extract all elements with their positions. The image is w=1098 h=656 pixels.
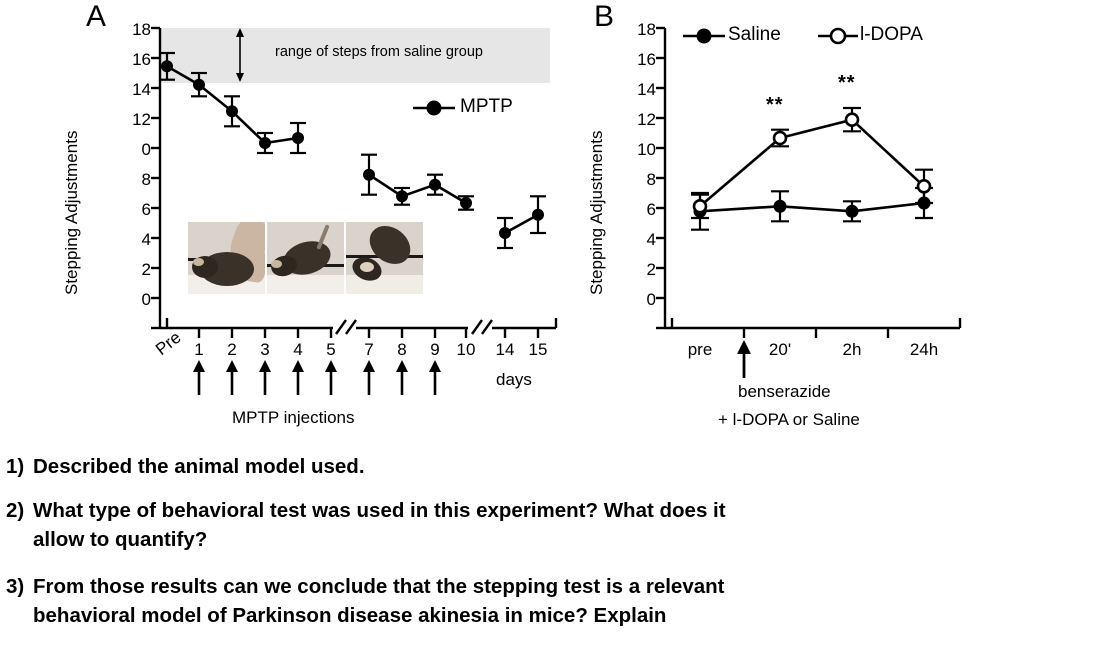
panel-b-series-saline (691, 188, 933, 230)
panel-b-legend-ldopa-marker (818, 29, 858, 43)
stepping-test-photo-1 (188, 222, 265, 294)
panel-b-plot (590, 0, 1098, 448)
panel-a-y-axis (151, 28, 160, 328)
question-2-line-1: What type of behavioral test was used in… (33, 498, 1075, 524)
panel-b-legend-saline-label: Saline (728, 24, 781, 46)
panel-b-xtick-2h: 2h (827, 340, 877, 360)
mptp-injections-caption: MPTP injections (232, 408, 355, 428)
panel-b-xtick-20min: 20' (755, 340, 805, 360)
panel-a-xtick-4: 4 (283, 340, 313, 360)
panel-b-y-axis (656, 28, 665, 328)
panel-b-x-axis (665, 318, 960, 338)
question-3-number: 3) (6, 574, 24, 600)
treatment-arrow-icon (737, 340, 751, 378)
panel-b-xtick-pre: pre (675, 340, 725, 360)
treatment-label-line2: + l-DOPA or Saline (718, 410, 860, 430)
panel-a-xtick-2: 2 (217, 340, 247, 360)
panel-a-xtick-15: 15 (523, 340, 553, 360)
panel-b-series-ldopa (691, 108, 933, 218)
panel-a-xtick-5: 5 (316, 340, 346, 360)
panel-a-xtick-14: 14 (490, 340, 520, 360)
figure-container: A Stepping Adjustments 18 16 14 12 0 8 6… (0, 0, 1098, 448)
significance-marker-20min: ** (766, 94, 784, 117)
question-2-line-2: allow to quantify? (33, 527, 1075, 553)
panel-a-legend-label: MPTP (460, 96, 513, 118)
panel-a-days-caption: days (496, 370, 532, 390)
significance-marker-2h: ** (838, 72, 856, 95)
question-3-line-2: behavioral model of Parkinson disease ak… (33, 603, 1063, 629)
panel-a-x-axis (160, 318, 556, 338)
panel-a: A Stepping Adjustments 18 16 14 12 0 8 6… (0, 0, 600, 448)
panel-a-xtick-8: 8 (387, 340, 417, 360)
stepping-test-photo-2 (267, 222, 344, 294)
panel-b: B Stepping Adjustments 18 16 14 12 10 8 … (590, 0, 1098, 448)
panel-a-legend-marker (413, 101, 455, 116)
panel-a-xtick-7: 7 (354, 340, 384, 360)
panel-a-xtick-1: 1 (184, 340, 214, 360)
panel-a-xtick-9: 9 (420, 340, 450, 360)
panel-b-legend-ldopa-label: l-DOPA (860, 24, 923, 46)
question-3-line-1: From those results can we conclude that … (33, 574, 1063, 600)
panel-b-legend-saline-marker (683, 29, 725, 44)
panel-a-xtick-3: 3 (250, 340, 280, 360)
saline-range-label: range of steps from saline group (275, 44, 483, 60)
panel-b-xtick-24h: 24h (899, 340, 949, 360)
stepping-test-photo-strip (188, 222, 423, 294)
question-2-number: 2) (6, 498, 24, 524)
treatment-label-line1: benserazide (738, 382, 831, 402)
question-1-number: 1) (6, 454, 24, 480)
mptp-injection-arrows (193, 360, 441, 395)
questions-block: 1) Described the animal model used. 2) W… (0, 448, 1098, 656)
panel-a-xtick-10: 10 (451, 340, 481, 360)
stepping-test-photo-3 (346, 222, 423, 294)
question-1-text: Described the animal model used. (33, 454, 1073, 480)
